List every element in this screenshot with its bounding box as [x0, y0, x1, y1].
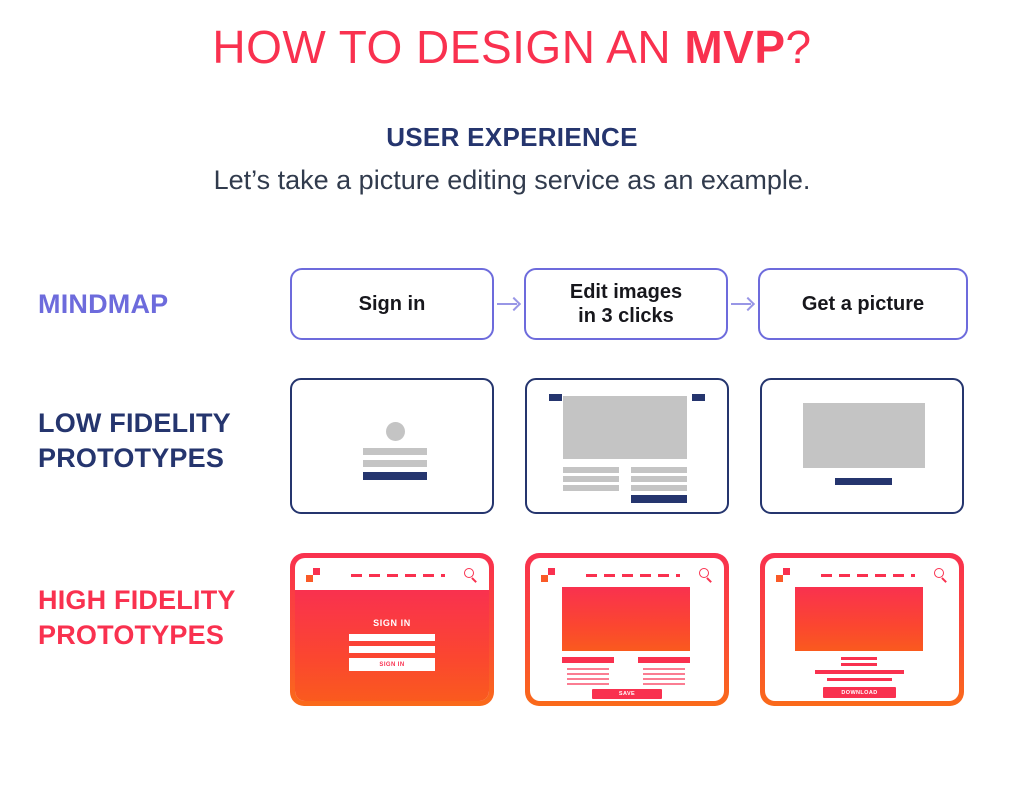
page-title-tail: ?	[786, 21, 812, 73]
squares-logo-icon	[306, 568, 320, 582]
text-line	[841, 663, 877, 666]
sign-in-button[interactable]: SIGN IN	[349, 658, 435, 671]
low-fidelity-card-edit-images[interactable]	[525, 378, 729, 514]
text-line-placeholder	[631, 476, 687, 482]
squares-logo-icon	[541, 568, 555, 582]
text-line	[567, 678, 609, 680]
subtitle-block: USER EXPERIENCE Let’s take a picture edi…	[0, 122, 1024, 196]
mindmap-box-edit-images[interactable]: Edit images in 3 clicks	[524, 268, 728, 340]
text-line	[567, 673, 609, 675]
mindmap-row-label: MINDMAP	[0, 287, 290, 322]
search-placeholder	[692, 394, 705, 401]
primary-button-placeholder	[835, 478, 892, 485]
text-line	[643, 668, 685, 670]
download-button[interactable]: DOWNLOAD	[823, 687, 896, 698]
mindmap-box-sign-in[interactable]: Sign in	[290, 268, 494, 340]
field-placeholder	[363, 448, 427, 455]
image-preview	[795, 587, 923, 651]
page-title-lead: HOW TO DESIGN AN	[212, 21, 684, 73]
mindmap-box-get-a-picture[interactable]: Get a picture	[758, 268, 968, 340]
primary-button-placeholder	[363, 472, 427, 480]
image-preview	[562, 587, 690, 651]
mindmap-box-label: Edit images in 3 clicks	[570, 280, 682, 329]
squares-logo-icon	[776, 568, 790, 582]
primary-button-placeholder	[631, 495, 687, 503]
high-fidelity-card-get-picture[interactable]: DOWNLOAD	[760, 553, 964, 706]
text-line	[841, 657, 877, 660]
section-heading: USER EXPERIENCE	[0, 122, 1024, 153]
column-heading	[562, 657, 614, 663]
text-line-placeholder	[631, 467, 687, 473]
text-line	[643, 678, 685, 680]
password-field[interactable]	[349, 646, 435, 653]
text-line	[567, 683, 609, 685]
low-fidelity-label-line2: PROTOTYPES	[38, 441, 290, 476]
low-fidelity-row: LOW FIDELITY PROTOTYPES	[0, 378, 1024, 514]
avatar-placeholder	[386, 422, 405, 441]
text-line	[827, 678, 892, 681]
text-line-placeholder	[631, 485, 687, 491]
low-fidelity-cards	[290, 378, 1024, 514]
low-fidelity-label-line1: LOW FIDELITY	[38, 406, 290, 441]
logo-placeholder	[549, 394, 562, 401]
mindmap-box-label: Get a picture	[802, 292, 924, 316]
mindmap-box-label: Sign in	[359, 292, 426, 316]
high-fidelity-cards: SIGN IN SIGN IN	[290, 553, 1024, 706]
image-placeholder	[563, 396, 687, 459]
page-title: HOW TO DESIGN AN MVP?	[0, 20, 1024, 74]
high-fidelity-row-label: HIGH FIDELITY PROTOTYPES	[0, 553, 290, 652]
nav-menu-placeholder[interactable]	[351, 574, 445, 577]
text-line	[643, 673, 685, 675]
text-line-placeholder	[563, 467, 619, 473]
text-line	[567, 668, 609, 670]
search-icon[interactable]	[699, 568, 713, 582]
image-placeholder	[803, 403, 925, 468]
signin-screen-title: SIGN IN	[295, 618, 489, 628]
page-title-strong: MVP	[684, 21, 785, 73]
high-fidelity-row: HIGH FIDELITY PROTOTYPES SIGN IN SIGN IN	[0, 553, 1024, 706]
low-fidelity-card-sign-in[interactable]	[290, 378, 494, 514]
field-placeholder	[363, 460, 427, 467]
high-fidelity-card-sign-in[interactable]: SIGN IN SIGN IN	[290, 553, 494, 706]
section-description: Let’s take a picture editing service as …	[0, 165, 1024, 196]
high-fidelity-card-edit-images[interactable]: SAVE	[525, 553, 729, 706]
text-line	[643, 683, 685, 685]
search-icon[interactable]	[934, 568, 948, 582]
text-line-placeholder	[563, 485, 619, 491]
high-fidelity-label-line2: PROTOTYPES	[38, 618, 290, 653]
text-line-placeholder	[563, 476, 619, 482]
mindmap-row: MINDMAP Sign in Edit images in 3 clicks …	[0, 260, 1024, 348]
email-field[interactable]	[349, 634, 435, 641]
low-fidelity-card-get-picture[interactable]	[760, 378, 964, 514]
nav-menu-placeholder[interactable]	[821, 574, 915, 577]
column-heading	[638, 657, 690, 663]
search-icon[interactable]	[464, 568, 478, 582]
arrow-right-icon	[494, 294, 524, 314]
text-line	[815, 670, 904, 674]
high-fidelity-label-line1: HIGH FIDELITY	[38, 583, 290, 618]
nav-menu-placeholder[interactable]	[586, 574, 680, 577]
save-button[interactable]: SAVE	[592, 689, 662, 699]
arrow-right-icon	[728, 294, 758, 314]
low-fidelity-row-label: LOW FIDELITY PROTOTYPES	[0, 378, 290, 475]
mindmap-boxes: Sign in Edit images in 3 clicks Get a pi…	[290, 268, 1024, 340]
